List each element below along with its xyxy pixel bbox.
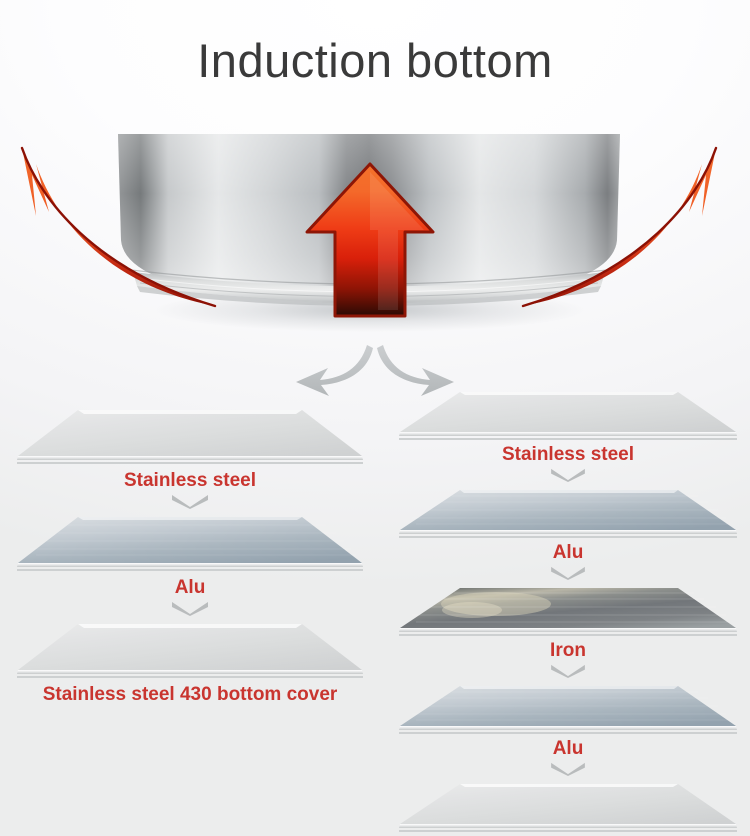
plate-stainless-steel: [386, 386, 750, 444]
layer-block: Iron: [386, 582, 750, 678]
layer-block: Alu: [6, 511, 374, 616]
layer-label-alu: Alu: [386, 738, 750, 760]
chevron-down-icon: [170, 493, 210, 509]
plate-alu: [6, 511, 374, 577]
plate-stainless-steel-430: [386, 778, 750, 836]
hero-illustration: [0, 120, 750, 410]
layer-label-stainless-steel: Stainless steel: [386, 444, 750, 466]
layer-block: Alu: [386, 680, 750, 776]
layer-label-alu: Alu: [386, 542, 750, 564]
five-layer-stack: Stainless steel Alu: [386, 386, 750, 836]
chevron-down-icon: [549, 663, 587, 678]
three-layer-stack: Stainless steel Alu: [6, 404, 374, 706]
layer-block: Stainless steel 430 bottom cover: [386, 778, 750, 836]
layer-label-stainless-steel: Stainless steel: [6, 470, 374, 492]
induction-bottom-infographic: Induction bottom: [0, 0, 750, 836]
plate-stainless-steel-430: [6, 618, 374, 684]
chevron-down-icon: [549, 761, 587, 776]
chevron-down-icon: [549, 565, 587, 580]
layer-block: Stainless steel: [6, 404, 374, 509]
plate-stainless-steel: [6, 404, 374, 470]
plate-alu: [386, 680, 750, 738]
layer-label-stainless-steel-430: Stainless steel 430 bottom cover: [6, 684, 374, 706]
chevron-down-icon: [549, 467, 587, 482]
plate-alu: [386, 484, 750, 542]
layer-block: Alu: [386, 484, 750, 580]
plate-iron: [386, 582, 750, 640]
layer-block: Stainless steel 430 bottom cover: [6, 618, 374, 706]
layer-label-iron: Iron: [386, 640, 750, 662]
layer-block: Stainless steel: [386, 386, 750, 482]
chevron-down-icon: [170, 600, 210, 616]
page-title: Induction bottom: [0, 33, 750, 88]
split-arrow-left: [296, 345, 373, 396]
layer-label-alu: Alu: [6, 577, 374, 599]
